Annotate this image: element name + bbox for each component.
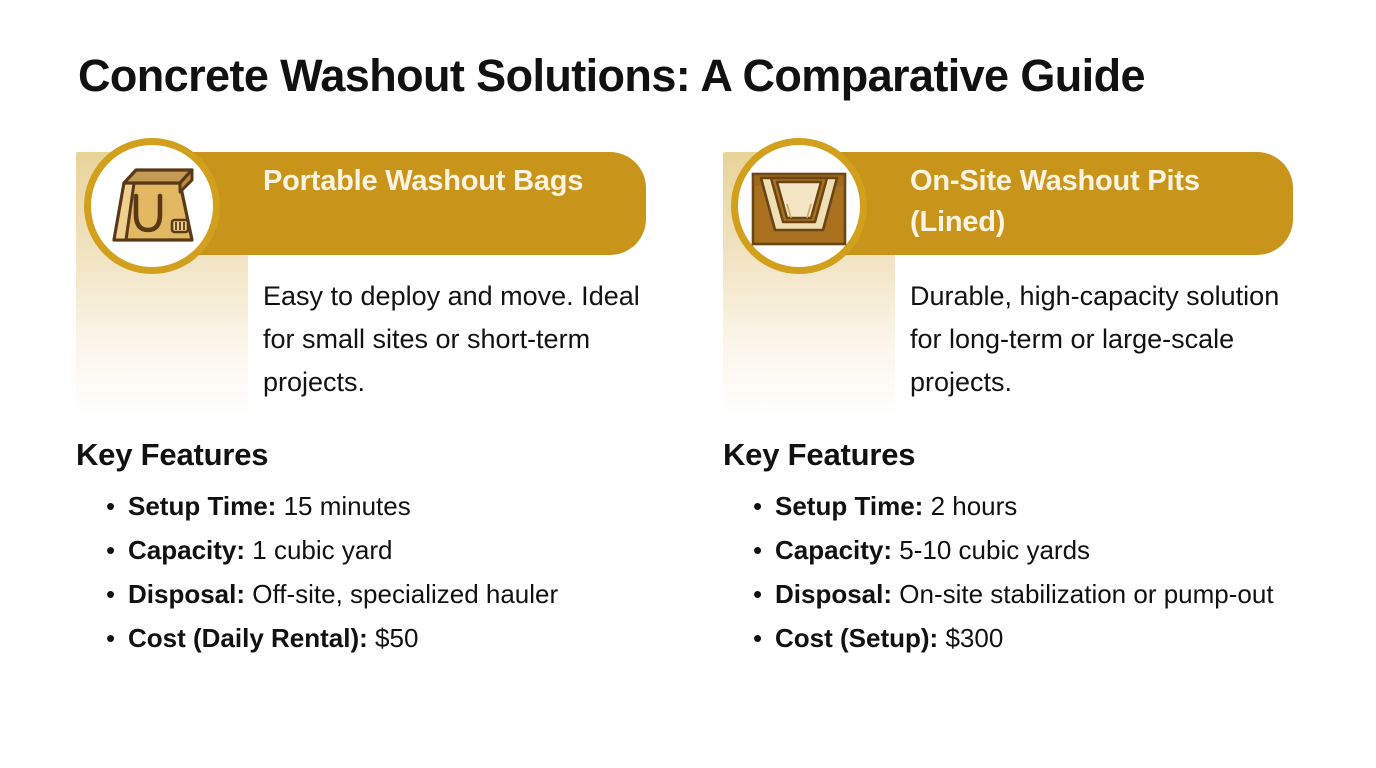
card-title: Portable Washout Bags <box>263 161 613 202</box>
features-heading: Key Features <box>723 437 1343 473</box>
list-item: Disposal: Off-site, specialized hauler <box>76 573 686 615</box>
list-item: Capacity: 1 cubic yard <box>76 529 686 571</box>
card-title: On-Site Washout Pits (Lined) <box>910 161 1260 243</box>
list-item: Disposal: On-site stabilization or pump-… <box>723 573 1343 615</box>
feature-label: Capacity: <box>775 535 892 565</box>
washout-bag-icon <box>84 138 220 274</box>
feature-label: Cost (Daily Rental): <box>128 623 368 653</box>
feature-list: Setup Time: 15 minutes Capacity: 1 cubic… <box>76 485 686 659</box>
card-header-bar: On-Site Washout Pits (Lined) <box>823 152 1293 255</box>
feature-label: Cost (Setup): <box>775 623 938 653</box>
list-item: Setup Time: 15 minutes <box>76 485 686 527</box>
list-item: Cost (Setup): $300 <box>723 617 1343 659</box>
feature-label: Disposal: <box>128 579 245 609</box>
feature-label: Disposal: <box>775 579 892 609</box>
list-item: Capacity: 5-10 cubic yards <box>723 529 1343 571</box>
list-item: Setup Time: 2 hours <box>723 485 1343 527</box>
key-features-on-site-pits: Key Features Setup Time: 2 hours Capacit… <box>723 437 1343 661</box>
page-title: Concrete Washout Solutions: A Comparativ… <box>78 50 1145 102</box>
feature-label: Capacity: <box>128 535 245 565</box>
feature-label: Setup Time: <box>775 491 923 521</box>
feature-value: 5-10 cubic yards <box>899 535 1090 565</box>
lined-pit-icon <box>731 138 867 274</box>
feature-list: Setup Time: 2 hours Capacity: 5-10 cubic… <box>723 485 1343 659</box>
feature-value: On-site stabilization or pump-out <box>899 579 1273 609</box>
feature-value: Off-site, specialized hauler <box>252 579 558 609</box>
feature-value: $50 <box>375 623 418 653</box>
feature-value: 15 minutes <box>284 491 411 521</box>
list-item: Cost (Daily Rental): $50 <box>76 617 686 659</box>
feature-value: 2 hours <box>931 491 1018 521</box>
feature-label: Setup Time: <box>128 491 276 521</box>
feature-value: $300 <box>945 623 1003 653</box>
card-header-bar: Portable Washout Bags <box>176 152 646 255</box>
card-description: Easy to deploy and move. Ideal for small… <box>263 275 663 405</box>
card-description: Durable, high-capacity solution for long… <box>910 275 1310 405</box>
key-features-portable-bags: Key Features Setup Time: 15 minutes Capa… <box>76 437 686 661</box>
features-heading: Key Features <box>76 437 686 473</box>
feature-value: 1 cubic yard <box>252 535 392 565</box>
